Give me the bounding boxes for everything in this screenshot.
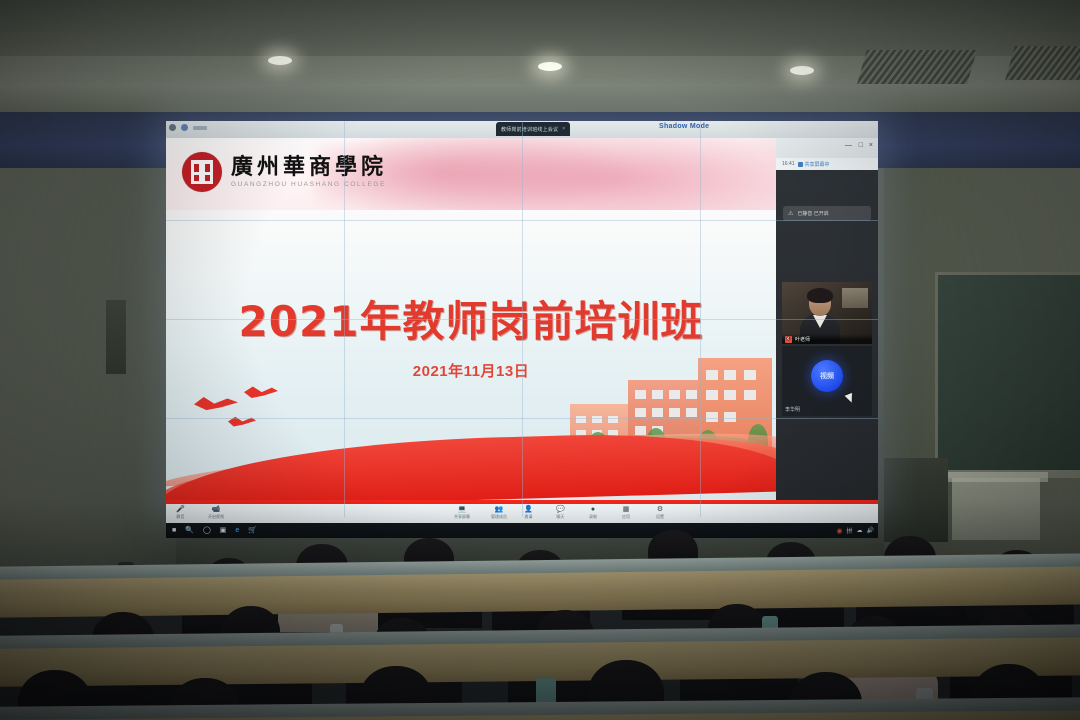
background-window [842,288,868,308]
slide-title: 2021年教师岗前培训班 [166,288,776,349]
members-icon: 👥 [495,506,504,513]
participant-avatar-tile[interactable]: 视频 李华明 [782,346,872,416]
minimize-button[interactable]: — [845,142,852,149]
close-button[interactable]: × [869,142,873,149]
settings-button[interactable]: ⚙ 设置 [656,506,664,520]
meeting-subbar: 16:41 共享屏幕中 [776,158,878,170]
invite-icon: 👤 [524,506,533,513]
shadow-mode-label: Shadow Mode [659,123,709,130]
dove-icon [194,396,238,412]
address-bar[interactable] [193,126,207,130]
screenshot-root: 教师岗前培训班线上会议 × Shadow Mode 廣州華商學院 GUANGZH… [0,0,1080,720]
video-button[interactable]: 📹 开启视频 [208,506,224,520]
share-status-chip[interactable]: 共享屏幕中 [798,161,830,168]
audience-area [0,520,1080,720]
green-chalkboard [935,272,1080,478]
university-logo-block: 廣州華商學院 GUANGZHOU HUASHANG COLLEGE [182,152,387,192]
participant-name: 叶老师 [795,336,810,343]
forward-icon[interactable] [181,124,188,131]
participant-nameplate: 🔇 叶老师 [782,334,872,344]
slide-header: 廣州華商學院 GUANGZHOU HUASHANG COLLEGE [166,138,776,210]
university-name-cn: 廣州華商學院 [231,156,387,179]
share-status-label: 共享屏幕中 [805,161,830,168]
chat-button[interactable]: 💬 聊天 [556,506,565,520]
invite-button[interactable]: 👤 邀请 [524,506,533,520]
microphone-muted-icon: 🔇 [785,336,792,343]
wall-speaker [106,300,126,374]
dove-icon [244,386,278,400]
close-icon[interactable]: × [562,126,565,132]
record-icon: ● [591,506,595,513]
air-vent-grille [1005,46,1080,80]
maximize-button[interactable]: □ [859,142,863,149]
red-ribbon-graphic [166,414,776,500]
video-wall-display[interactable]: 教师岗前培训班线上会议 × Shadow Mode 廣州華商學院 GUANGZH… [166,121,878,517]
share-screen-icon [798,162,803,167]
participant-video-tile[interactable]: 🔇 叶老师 [782,282,872,344]
apps-button[interactable]: ▦ 应用 [622,506,630,520]
share-screen-icon: 💻 [458,506,467,513]
participant-name: 李华明 [785,406,800,413]
meeting-side-panel: — □ × 16:41 共享屏幕中 ⚠ 已静音 已开启 [776,138,878,500]
back-icon[interactable] [169,124,176,131]
meeting-notice-banner: ⚠ 已静音 已开启 [783,206,871,221]
air-vent-grille [857,50,977,84]
ceiling-light [790,66,814,75]
manage-members-button[interactable]: 👥 管理成员 [491,506,507,520]
microphone-icon: 🎤 [176,506,185,513]
meeting-titlebar: — □ × [776,138,878,158]
chrome-left-controls [169,124,207,131]
ceiling-light [538,62,562,71]
huashang-seal-logo [182,152,222,192]
browser-chrome: 教师岗前培训班线上会议 × Shadow Mode [166,121,878,138]
bell-icon: ⚠ [788,210,793,217]
record-button[interactable]: ● 录制 [589,506,597,520]
university-name-en: GUANGZHOU HUASHANG COLLEGE [231,181,387,188]
meeting-time: 16:41 [782,161,795,167]
browser-tab-label: 教师岗前培训班线上会议 [501,126,558,133]
chat-icon: 💬 [556,506,565,513]
meeting-notice-text: 已静音 已开启 [797,210,828,217]
browser-tab[interactable]: 教师岗前培训班线上会议 × [496,122,570,136]
mute-button[interactable]: 🎤 静音 [176,506,185,520]
apps-icon: ▦ [623,506,630,513]
gear-icon: ⚙ [657,506,663,513]
ceiling-light [268,56,292,65]
share-screen-button[interactable]: 💻 共享屏幕 [454,506,470,520]
presentation-slide: 廣州華商學院 GUANGZHOU HUASHANG COLLEGE 2021年教… [166,138,776,500]
avatar: 视频 [811,360,843,392]
left-wall [0,168,176,568]
camera-icon: 📹 [212,506,221,513]
